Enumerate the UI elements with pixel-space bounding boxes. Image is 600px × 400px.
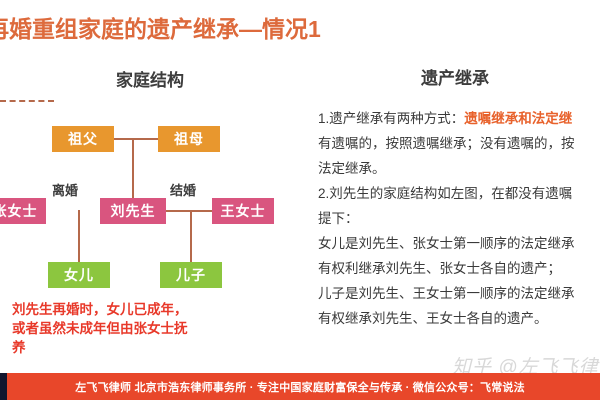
relation-label-divorce: 离婚 bbox=[52, 180, 78, 199]
footer-banner: 左飞飞律师 北京市浩东律师事务所 · 专注中国家庭财富保全与传承 · 微信公众号… bbox=[0, 373, 600, 400]
banner-text: 左飞飞律师 北京市浩东律师事务所 · 专注中国家庭财富保全与传承 · 微信公众号… bbox=[75, 379, 525, 395]
inheritance-line-1: 1.遗产继承有两种方式：遗嘱继承和法定继 bbox=[318, 106, 600, 131]
daughter-custody-note: 刘先生再婚时，女儿已成年，或者虽然未成年但由张女士抚养 bbox=[12, 300, 192, 357]
page-title: 再婚重组家庭的遗产继承—情况1 bbox=[0, 14, 600, 44]
inheritance-line-6: 女儿是刘先生、张女士第一顺序的法定继承 bbox=[318, 231, 600, 256]
slide-canvas: 再婚重组家庭的遗产继承—情况1 家庭结构 遗产继承 离婚 结婚 祖父 祖母 张女… bbox=[0, 0, 600, 400]
node-grandfather: 祖父 bbox=[52, 126, 114, 152]
family-structure-heading: 家庭结构 bbox=[0, 66, 300, 91]
inheritance-line-7: 有权利继承刘先生、张女士各自的遗产； bbox=[318, 256, 600, 281]
connector-marriage-liu-wang bbox=[166, 210, 212, 212]
inheritance-line-8: 儿子是刘先生、王女士第一顺序的法定继承 bbox=[318, 281, 600, 306]
node-mr-liu: 刘先生 bbox=[100, 198, 166, 224]
relation-label-marriage: 结婚 bbox=[170, 180, 196, 199]
node-ms-wang: 王女士 bbox=[212, 198, 274, 224]
node-ms-zhang: 张女士 bbox=[0, 198, 46, 224]
connector-divorce-zhang-liu bbox=[0, 100, 54, 102]
node-daughter: 女儿 bbox=[48, 262, 110, 288]
inheritance-heading: 遗产继承 bbox=[330, 64, 580, 89]
connector-to-son bbox=[190, 210, 192, 262]
inheritance-line-2: 有遗嘱的，按照遗嘱继承；没有遗嘱的，按 bbox=[318, 131, 600, 156]
inheritance-line-5: 提下： bbox=[318, 206, 600, 231]
inheritance-line-1-text: 1.遗产继承有两种方式： bbox=[318, 111, 464, 126]
inheritance-text-panel: 1.遗产继承有两种方式：遗嘱继承和法定继 有遗嘱的，按照遗嘱继承；没有遗嘱的，按… bbox=[318, 106, 600, 331]
inheritance-line-3: 法定继承。 bbox=[318, 156, 600, 181]
inheritance-line-9: 有权继承刘先生、王女士各自的遗产。 bbox=[318, 306, 600, 331]
connector-grandparents-to-liu bbox=[132, 138, 134, 198]
inheritance-line-1-highlight: 遗嘱继承和法定继 bbox=[464, 111, 572, 126]
node-grandmother: 祖母 bbox=[158, 126, 220, 152]
node-son: 儿子 bbox=[160, 262, 222, 288]
connector-to-daughter bbox=[78, 210, 80, 262]
inheritance-line-4: 2.刘先生的家庭结构如左图，在都没有遗嘱 bbox=[318, 181, 600, 206]
banner-accent-strip bbox=[0, 373, 7, 400]
connector-grandparents-horizontal bbox=[114, 138, 158, 140]
